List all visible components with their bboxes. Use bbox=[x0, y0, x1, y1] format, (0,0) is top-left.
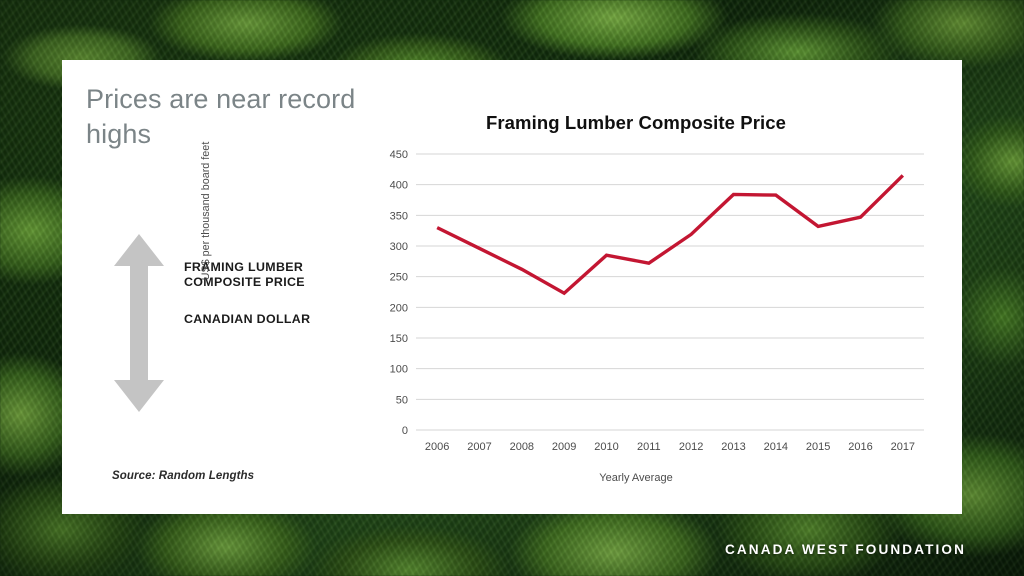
x-axis-tick-label: 2017 bbox=[891, 441, 915, 453]
x-axis-tick-label: 2016 bbox=[848, 441, 872, 453]
y-axis-tick-label: 350 bbox=[390, 210, 408, 222]
y-axis-tick-label: 250 bbox=[390, 272, 408, 284]
data-series-line bbox=[437, 175, 903, 293]
source-note: Source: Random Lengths bbox=[112, 470, 254, 482]
x-axis-tick-label: 2007 bbox=[467, 441, 491, 453]
content-card: Prices are near record highs FRAMING LUM… bbox=[62, 60, 962, 514]
y-axis-tick-label: 100 bbox=[390, 364, 408, 376]
chart-panel: Framing Lumber Composite Price US$ per t… bbox=[334, 112, 938, 504]
x-axis-tick-label: 2012 bbox=[679, 441, 703, 453]
x-axis-tick-label: 2011 bbox=[637, 441, 661, 453]
x-axis-tick-label: 2006 bbox=[425, 441, 449, 453]
x-axis-tick-label: 2015 bbox=[806, 441, 830, 453]
y-axis-tick-label: 300 bbox=[390, 241, 408, 253]
y-axis-tick-label: 400 bbox=[390, 180, 408, 192]
line-chart-svg: 0501001502002503003504004502006200720082… bbox=[334, 142, 938, 472]
x-axis-tick-label: 2010 bbox=[594, 441, 618, 453]
x-axis-tick-label: 2009 bbox=[552, 441, 576, 453]
footer-logo: CANADA WEST FOUNDATION bbox=[725, 542, 966, 557]
double-headed-vertical-arrow-icon bbox=[112, 232, 166, 414]
slide-root: Prices are near record highs FRAMING LUM… bbox=[0, 0, 1024, 576]
x-axis-label: Yearly Average bbox=[334, 472, 938, 484]
chart-title: Framing Lumber Composite Price bbox=[334, 112, 938, 134]
y-axis-tick-label: 150 bbox=[390, 333, 408, 345]
x-axis-tick-label: 2014 bbox=[764, 441, 788, 453]
x-axis-tick-label: 2008 bbox=[510, 441, 534, 453]
y-axis-tick-label: 450 bbox=[390, 149, 408, 161]
y-axis-tick-label: 200 bbox=[390, 302, 408, 314]
plot-area: US$ per thousand board feet 050100150200… bbox=[334, 142, 938, 492]
y-axis-tick-label: 0 bbox=[402, 425, 408, 437]
y-axis-tick-label: 50 bbox=[396, 394, 408, 406]
x-axis-tick-label: 2013 bbox=[721, 441, 745, 453]
